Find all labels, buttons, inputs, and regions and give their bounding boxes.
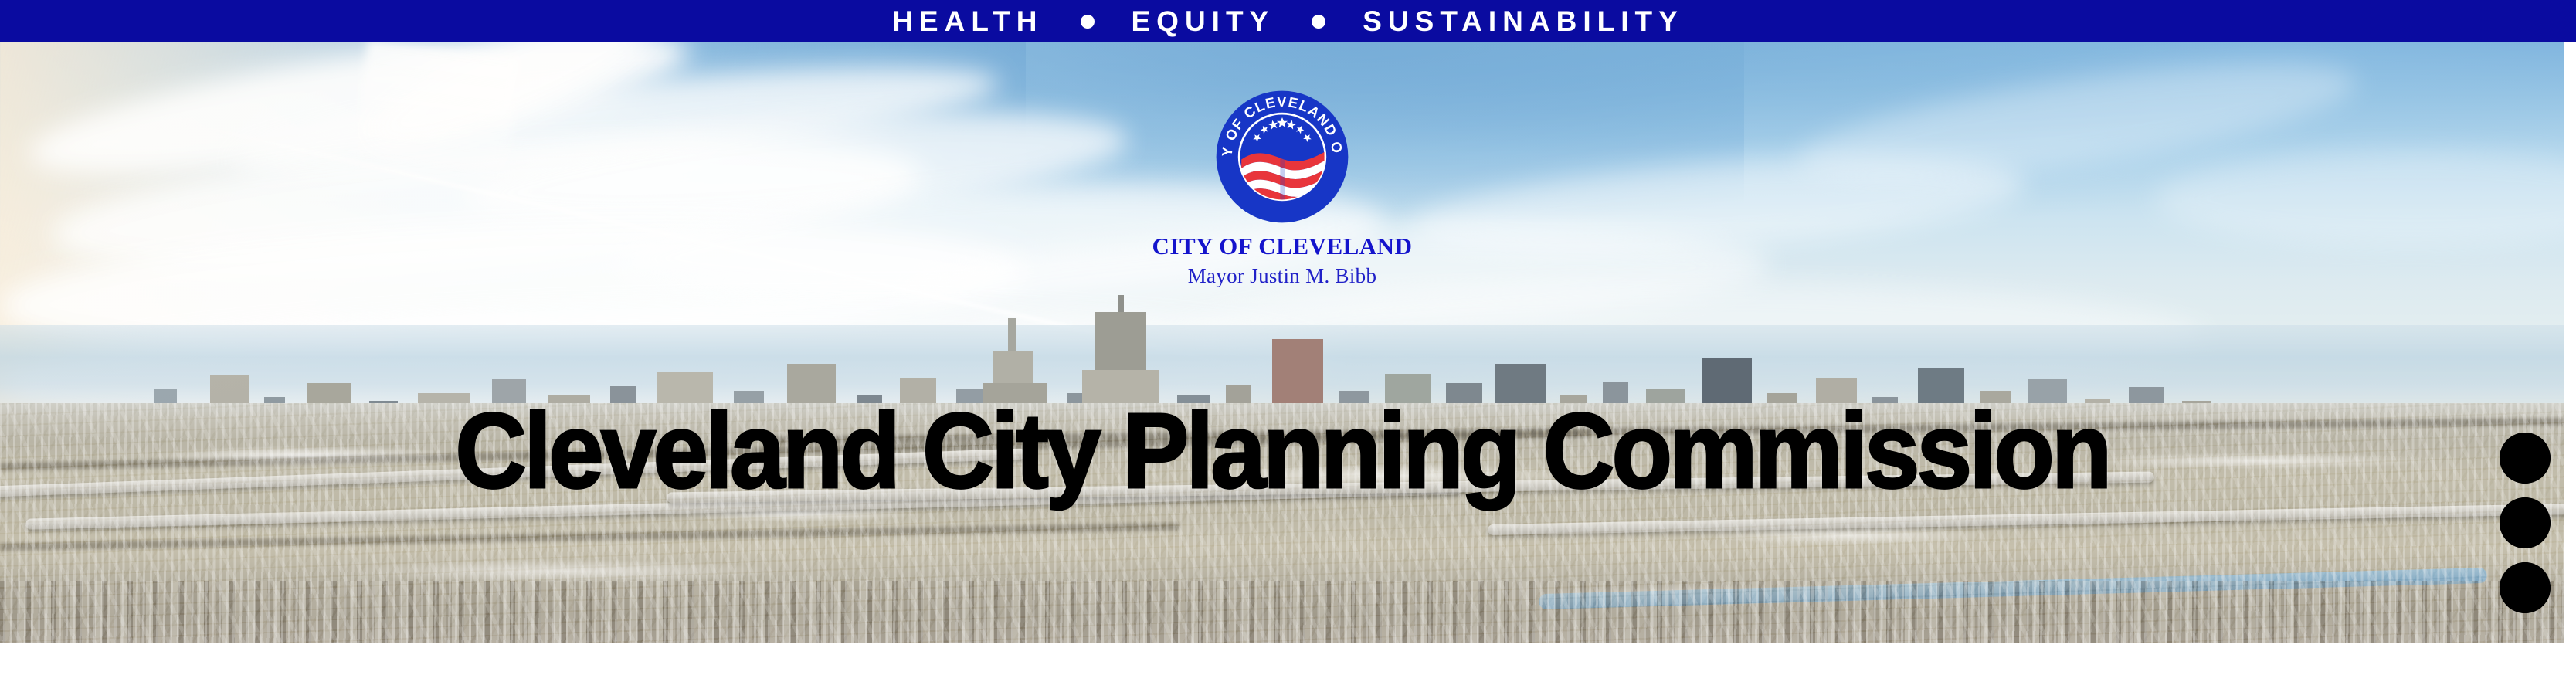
instagram-link[interactable] [2500,497,2551,548]
bottom-white-margin [0,643,2576,682]
tagline-banner: HEALTH EQUITY SUSTAINABILITY [0,0,2576,42]
facebook-link[interactable] [2500,562,2551,613]
right-white-margin [2564,42,2576,643]
contrail [351,42,521,189]
city-branding-block: CITY OF CLEVELAND OHIO [1081,89,1483,288]
bullet-dot-icon [1081,15,1095,29]
hero-photo: CITY OF CLEVELAND OHIO [0,42,2564,643]
mayor-name-label: Mayor Justin M. Bibb [1188,264,1377,288]
page-root: HEALTH EQUITY SUSTAINABILITY [0,0,2576,682]
tagline-word-sustainability: SUSTAINABILITY [1363,7,1684,36]
instagram-icon [2500,497,2551,548]
tagline-word-equity: EQUITY [1132,7,1275,36]
tagline-word-health: HEALTH [892,7,1043,36]
bullet-dot-icon [1312,15,1325,29]
youtube-link[interactable] [2500,433,2551,484]
page-title: Cleveland City Planning Commission [90,398,2475,504]
social-media-rail [2500,433,2551,613]
city-name-label: CITY OF CLEVELAND [1152,232,1413,260]
youtube-icon [2500,433,2551,484]
facebook-icon [2500,562,2551,613]
city-of-cleveland-seal-icon: CITY OF CLEVELAND OHIO [1214,89,1350,225]
